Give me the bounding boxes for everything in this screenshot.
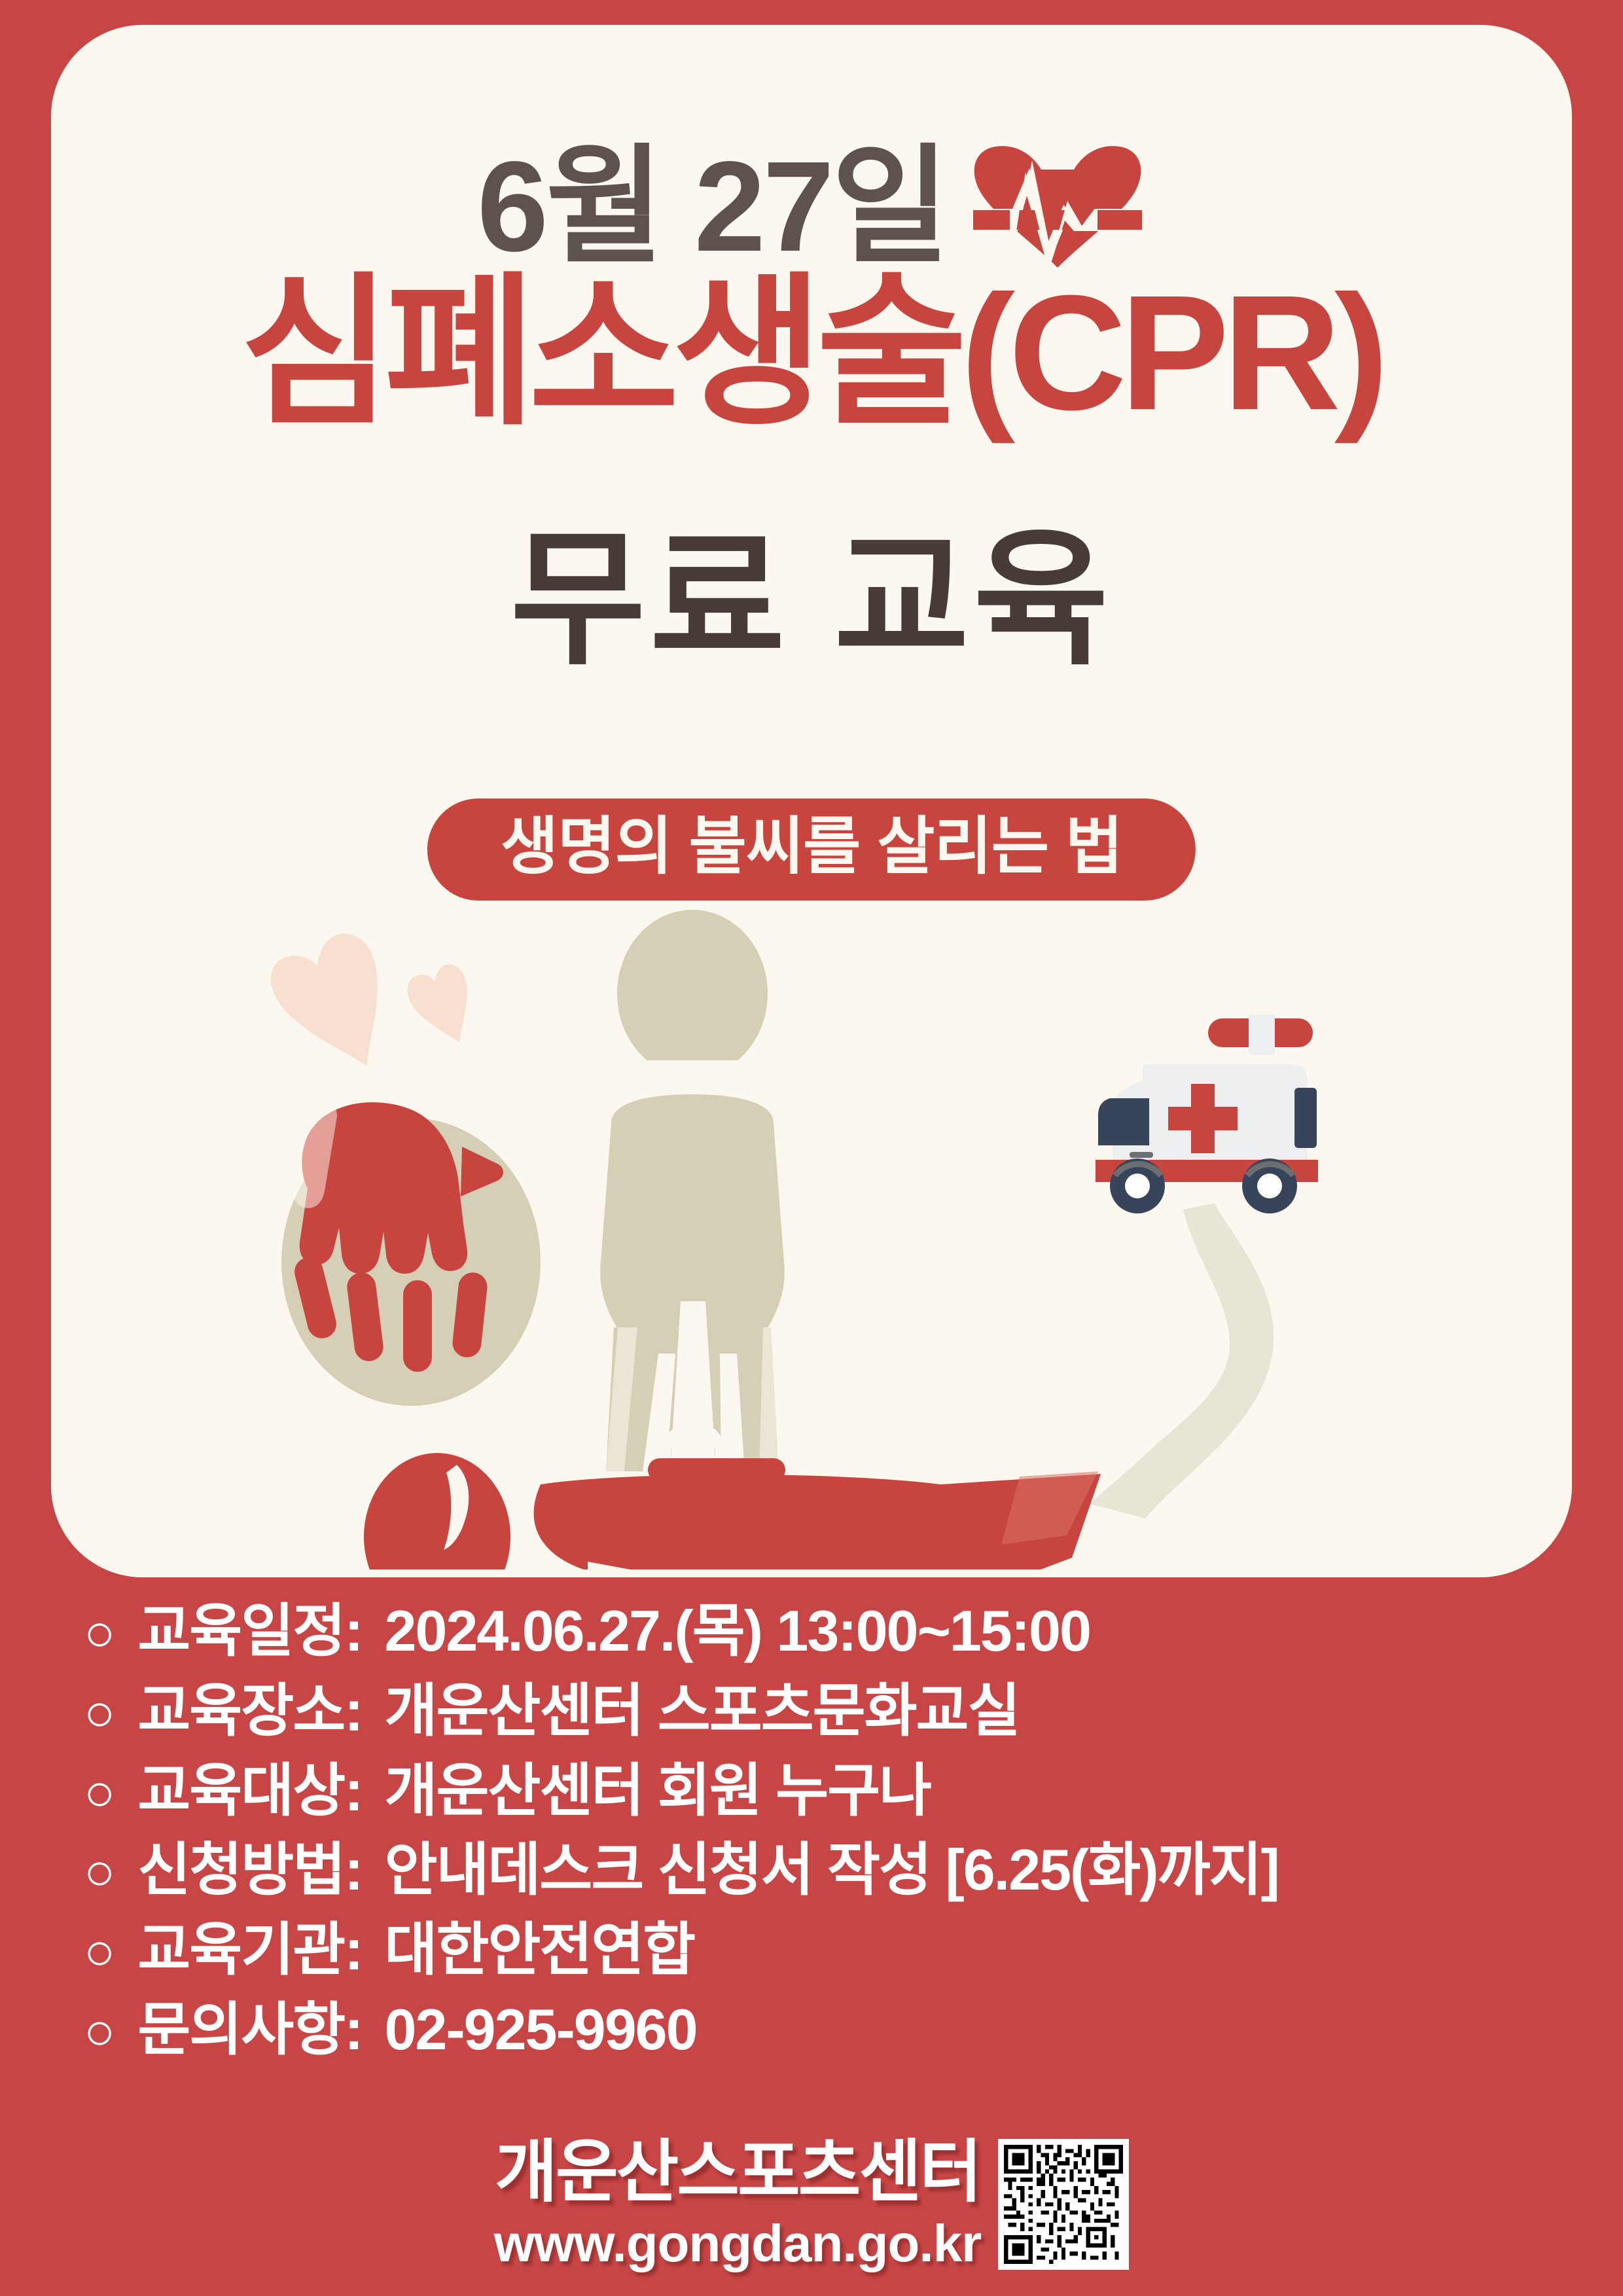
detail-label: 문의사항: — [137, 1996, 362, 2064]
cpr-scene-illustration — [247, 895, 1445, 1570]
detail-label: 교육장소: — [137, 1677, 362, 1745]
qr-code[interactable] — [998, 2139, 1129, 2270]
detail-row: ○ 교육장소: 개운산센터 스포츠문화교실 — [84, 1677, 1556, 1745]
details-list: ○ 교육일정: 2024.06.27.(목) 13:00~15:00 ○ 교육장… — [84, 1597, 1556, 2075]
ambulance-icon — [1096, 1014, 1318, 1213]
rescuer-head — [364, 1453, 510, 1570]
footer-brand: 개운산스포츠센터 www.gongdan.go.kr — [494, 2137, 981, 2272]
bullet-icon: ○ — [84, 1841, 115, 1903]
detail-row: ○ 교육대상: 개운산센터 회원 누구나 — [84, 1757, 1556, 1825]
event-date: 6월 27일 — [477, 143, 947, 271]
bullet-icon: ○ — [84, 1921, 115, 1982]
detail-label: 교육대상: — [137, 1757, 362, 1825]
detail-value: 대한안전연합 — [384, 1916, 694, 1984]
hero-card: 6월 27일 심폐소생술(CPR) 무료 교육 생명의 불씨를 살리는 법 — [51, 25, 1572, 1577]
poster-root: 6월 27일 심폐소생술(CPR) 무료 교육 생명의 불씨를 살리는 법 — [0, 0, 1623, 2296]
detail-label: 신청방법: — [137, 1836, 362, 1904]
detail-value: 2024.06.27.(목) 13:00~15:00 — [384, 1597, 1090, 1665]
organization-name: 개운산스포츠센터 — [495, 2137, 980, 2208]
victim-figure — [600, 910, 785, 1475]
detail-value: 개운산센터 회원 누구나 — [384, 1757, 931, 1825]
detail-row: ○ 신청방법: 안내데스크 신청서 작성 [6.25(화)까지] — [84, 1836, 1556, 1904]
detail-value: 안내데스크 신청서 작성 [6.25(화)까지] — [384, 1836, 1278, 1904]
detail-value: 02-925-9960 — [384, 1996, 696, 2064]
decorative-heart-large — [265, 929, 393, 1080]
bullet-icon: ○ — [84, 2001, 115, 2062]
detail-value: 개운산센터 스포츠문화교실 — [384, 1677, 1019, 1745]
page-subtitle: 무료 교육 — [51, 522, 1572, 677]
heart-pulse-icon — [969, 145, 1146, 269]
rescuer-arms — [534, 1471, 1101, 1570]
tagline-text: 생명의 불씨를 살리는 법 — [501, 816, 1122, 878]
detail-row: ○ 교육일정: 2024.06.27.(목) 13:00~15:00 — [84, 1597, 1556, 1665]
ambulance-trail — [1090, 1203, 1274, 1518]
organization-url[interactable]: www.gongdan.go.kr — [494, 2215, 981, 2272]
page-title: 심폐소생술(CPR) — [51, 267, 1572, 439]
decorative-heart-small — [404, 962, 474, 1049]
tagline-badge: 생명의 불씨를 살리는 법 — [427, 798, 1196, 901]
detail-row: ○ 교육기관: 대한안전연합 — [84, 1916, 1556, 1984]
detail-label: 교육기관: — [137, 1916, 362, 1984]
bullet-icon: ○ — [84, 1602, 115, 1664]
date-row: 6월 27일 — [51, 143, 1572, 271]
bullet-icon: ○ — [84, 1682, 115, 1744]
detail-row: ○ 문의사항: 02-925-9960 — [84, 1996, 1556, 2064]
bullet-icon: ○ — [84, 1762, 115, 1823]
detail-label: 교육일정: — [137, 1597, 362, 1665]
hand-compression-circle — [281, 1100, 541, 1406]
footer: 개운산스포츠센터 www.gongdan.go.kr — [0, 2137, 1623, 2272]
